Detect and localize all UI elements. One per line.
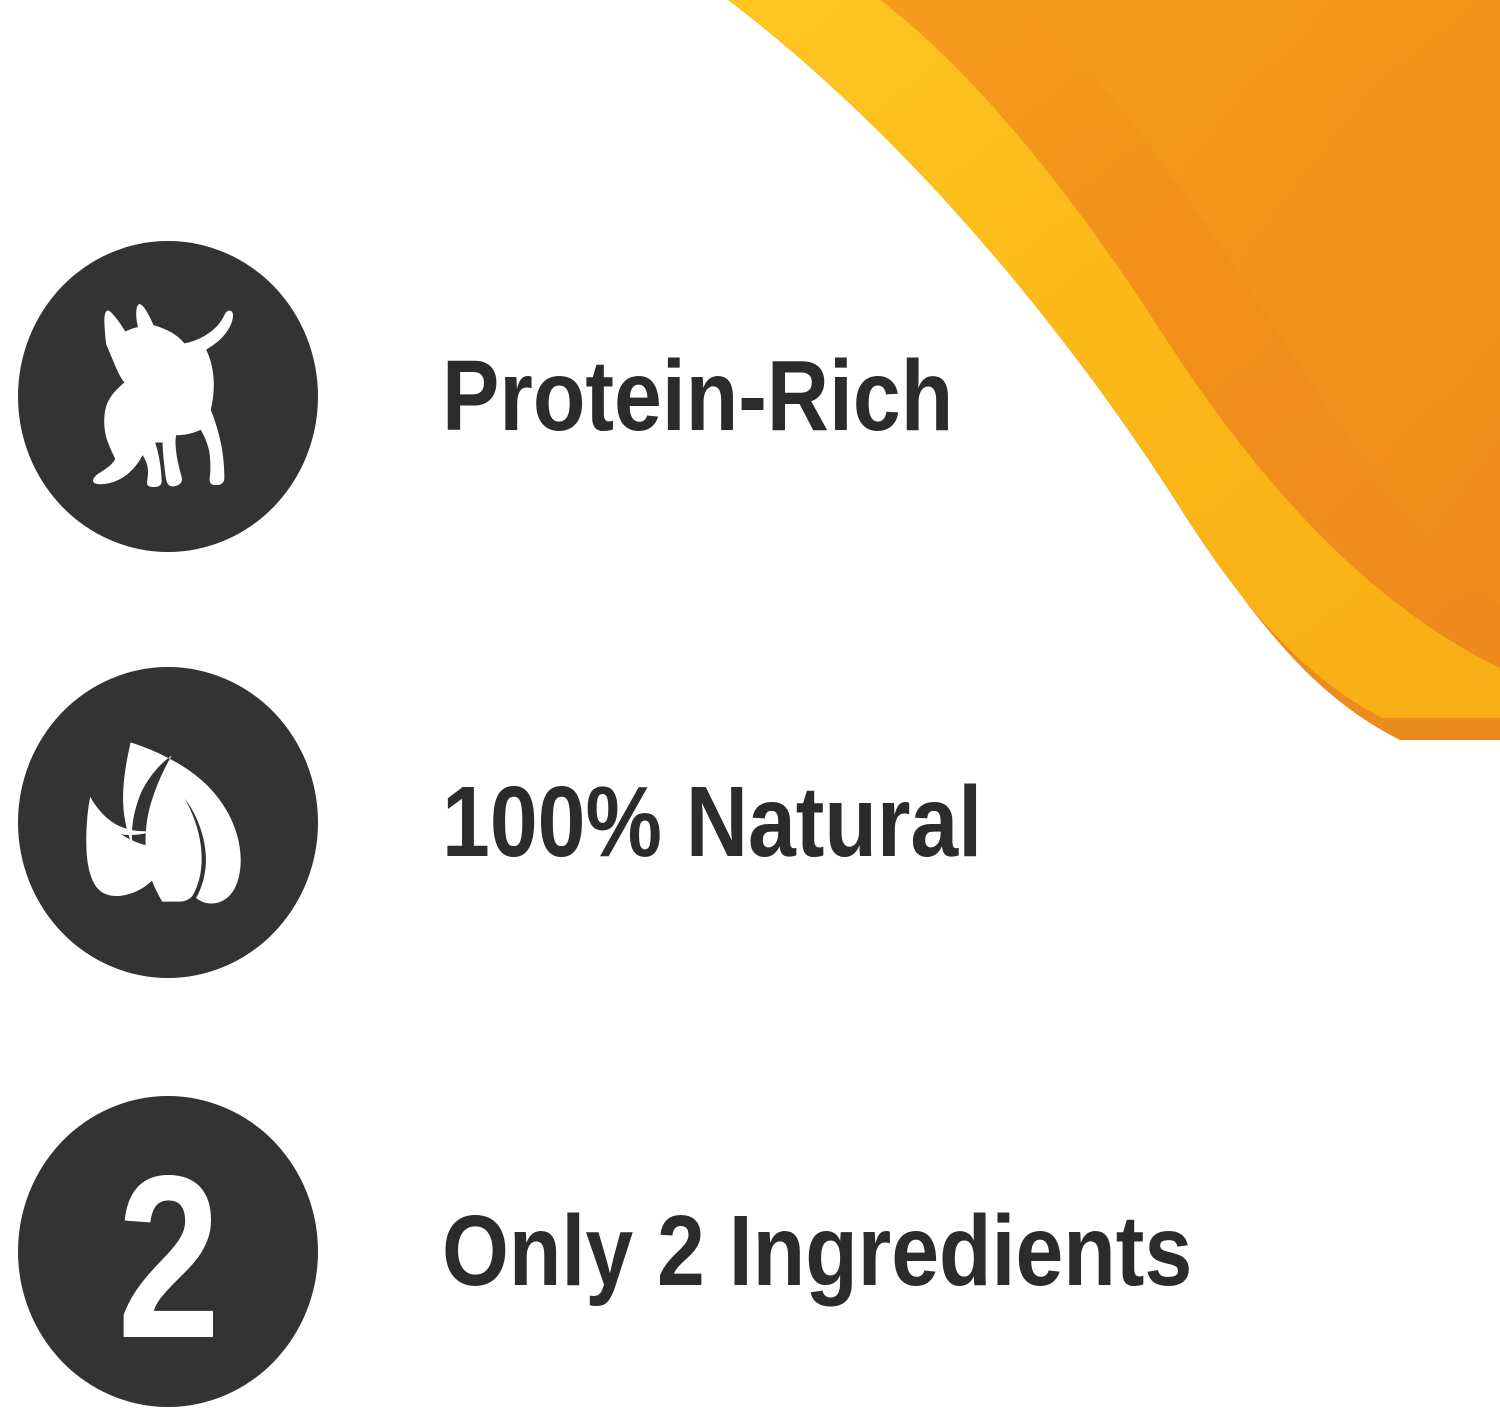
feature-row: Protein-Rich bbox=[0, 241, 1500, 552]
feature-row: 100% Natural bbox=[0, 667, 1500, 978]
product-feature-callout-panel: Protein-Rich 100% Natural 2 Only 2 Ingre… bbox=[0, 0, 1500, 1411]
cat-icon bbox=[18, 241, 318, 552]
number-two-icon: 2 bbox=[48, 1102, 288, 1411]
feature-badge bbox=[18, 241, 318, 552]
feature-label: Only 2 Ingredients bbox=[442, 1199, 1192, 1304]
feature-label: 100% Natural bbox=[442, 770, 982, 875]
feature-badge: 2 bbox=[18, 1096, 318, 1407]
feature-row: 2 Only 2 Ingredients bbox=[0, 1096, 1500, 1407]
feature-label: Protein-Rich bbox=[442, 344, 953, 449]
feature-badge bbox=[18, 667, 318, 978]
leaf-icon bbox=[18, 667, 318, 978]
